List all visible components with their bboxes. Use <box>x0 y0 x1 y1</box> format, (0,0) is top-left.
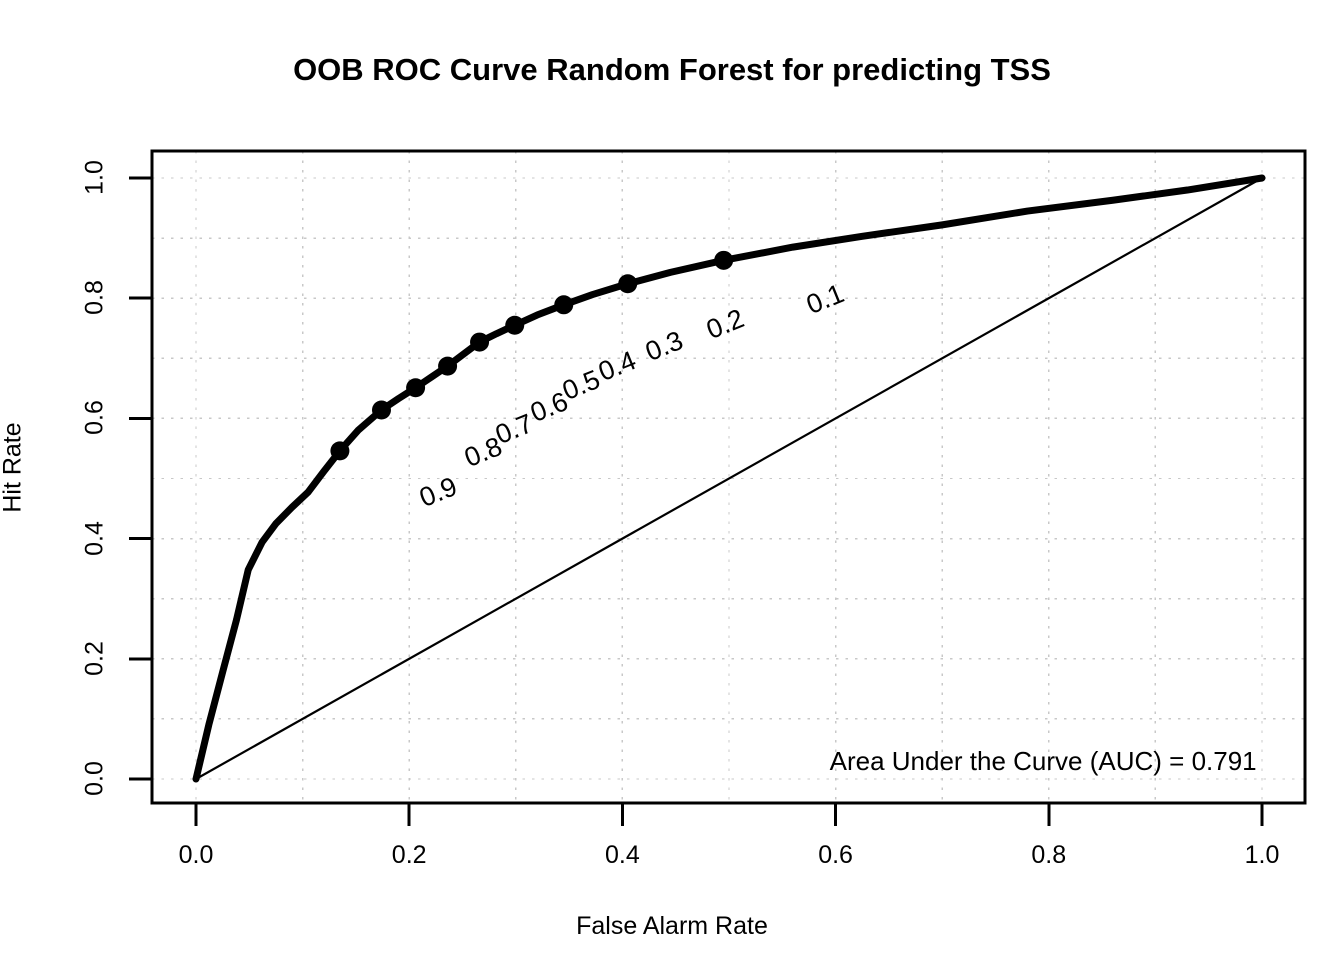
roc-chart: OOB ROC Curve Random Forest for predicti… <box>0 0 1344 960</box>
auc-annotation: Area Under the Curve (AUC) = 0.791 <box>830 746 1257 777</box>
x-tick-label: 0.6 <box>796 841 876 870</box>
y-tick-label: 0.2 <box>81 618 110 698</box>
x-tick-label: 0.0 <box>156 841 236 870</box>
x-tick-label: 1.0 <box>1222 841 1302 870</box>
y-tick-label: 0.6 <box>81 378 110 458</box>
y-tick-label: 0.0 <box>81 739 110 819</box>
x-tick-label: 0.4 <box>582 841 662 870</box>
y-tick-label: 0.4 <box>81 498 110 578</box>
plot-area <box>0 0 1344 960</box>
y-tick-label: 0.8 <box>81 258 110 338</box>
x-tick-label: 0.2 <box>369 841 449 870</box>
x-tick-label: 0.8 <box>1009 841 1089 870</box>
y-tick-label: 1.0 <box>81 138 110 218</box>
